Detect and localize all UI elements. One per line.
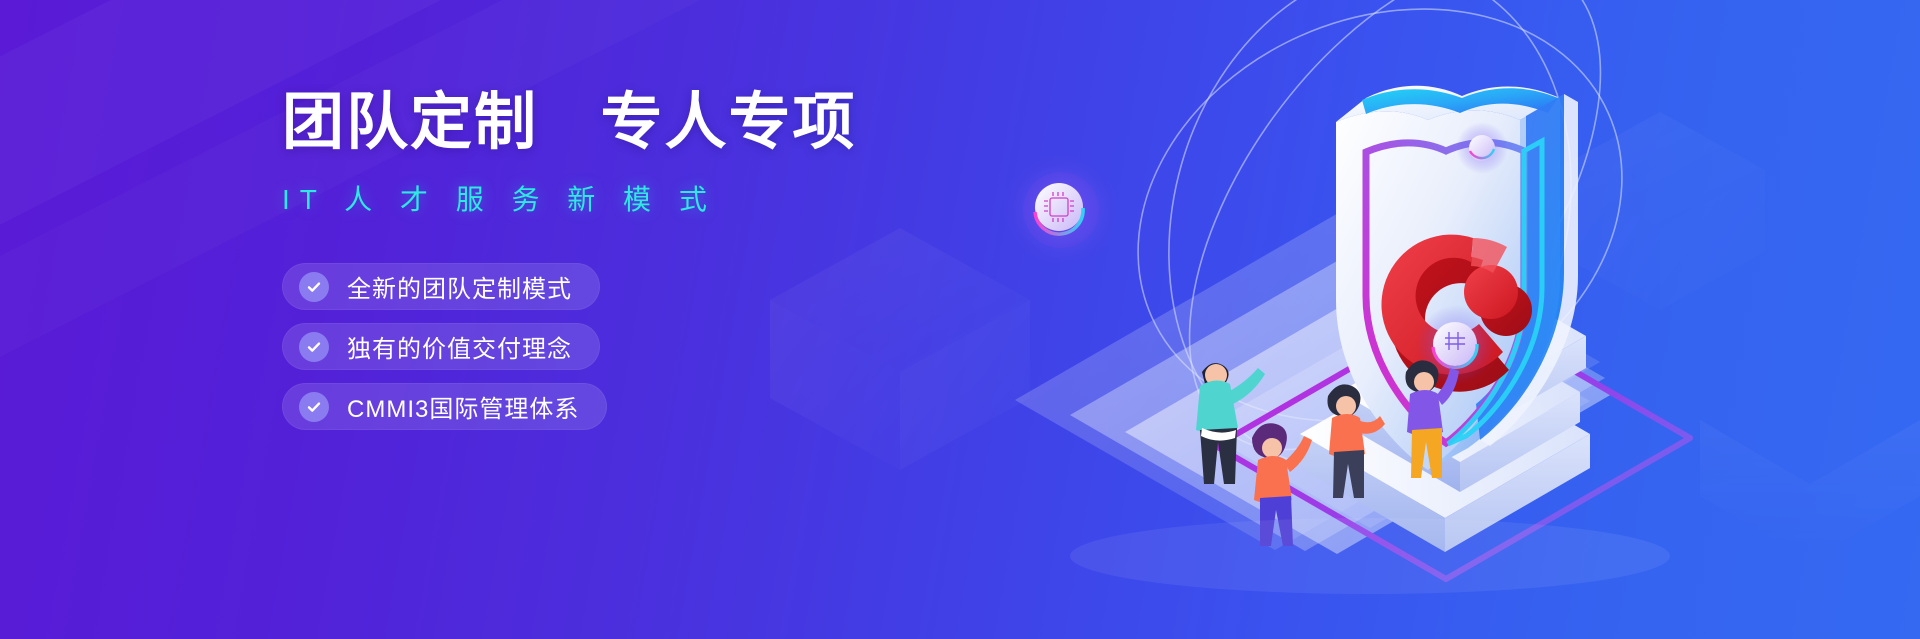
feature-pill-label: 全新的团队定制模式 [347,269,572,304]
platform-shadow-glow [1070,518,1670,594]
page-title: 团队定制 专人专项 [282,92,1042,154]
check-icon [299,272,329,302]
feature-pill-label: 独有的价值交付理念 [347,329,572,364]
feature-list: 全新的团队定制模式 独有的价值交付理念 CMMI3国际管理体系 [282,263,1042,430]
check-icon [299,392,329,422]
page-subtitle: IT 人 才 服 务 新 模 式 [282,178,1042,218]
promo-banner: 团队定制 专人专项 IT 人 才 服 务 新 模 式 全新的团队定制模式 [0,0,1920,639]
hero-illustration [900,0,1920,639]
check-icon [299,332,329,362]
title-part-1: 团队定制 [282,88,538,157]
feature-pill-1[interactable]: 全新的团队定制模式 [282,263,600,310]
feature-pill-label: CMMI3国际管理体系 [347,389,579,424]
feature-pill-2[interactable]: 独有的价值交付理念 [282,323,600,370]
feature-pill-3[interactable]: CMMI3国际管理体系 [282,383,607,430]
banner-content: 团队定制 专人专项 IT 人 才 服 务 新 模 式 全新的团队定制模式 [282,92,1042,443]
title-part-2: 专人专项 [600,88,856,157]
small-sphere-node [1456,122,1508,174]
